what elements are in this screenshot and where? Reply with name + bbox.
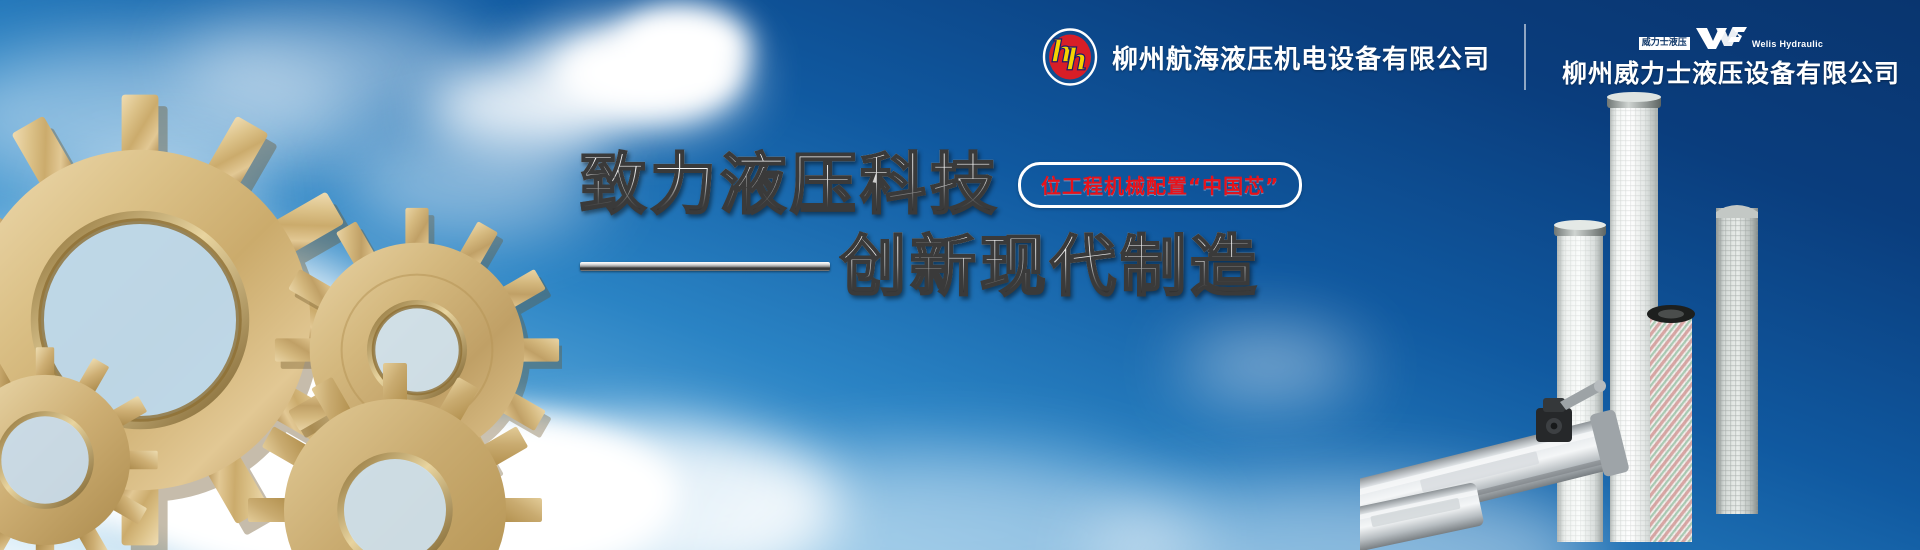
svg-text:h: h	[1066, 43, 1088, 78]
status-badge: 位工程机械配置“中国芯”	[1018, 162, 1302, 208]
gear-small	[0, 345, 160, 550]
filter-element-striped	[1647, 305, 1695, 542]
metallic-rule	[580, 262, 830, 271]
ws-logo-cn-tag: 威力士液压	[1639, 37, 1690, 50]
brand-bar: h h 柳州航海液压机电设备有限公司 威力士液压 Welis Hydraulic…	[1042, 24, 1900, 90]
headline-line-1: 致力液压科技	[580, 150, 1000, 220]
brand-secondary[interactable]: 威力士液压 Welis Hydraulic 柳州威力士液压设备有限公司	[1526, 24, 1900, 90]
headline-block: 致力液压科技 位工程机械配置“中国芯” 创新现代制造	[580, 150, 1360, 302]
ws-mark-icon	[1694, 24, 1748, 50]
brand-primary[interactable]: h h 柳州航海液压机电设备有限公司	[1042, 28, 1524, 86]
brand-secondary-name: 柳州威力士液压设备有限公司	[1562, 54, 1900, 90]
headline-line-2: 创新现代制造	[840, 232, 1260, 302]
hh-circle-logo-icon: h h	[1042, 28, 1098, 86]
filter-element-mesh	[1716, 205, 1758, 514]
brand-primary-name: 柳州航海液压机电设备有限公司	[1112, 39, 1490, 76]
ws-welis-logo-icon: 威力士液压 Welis Hydraulic	[1639, 24, 1823, 50]
ws-logo-en-text: Welis Hydraulic	[1752, 39, 1823, 50]
hero-banner: 致力液压科技 位工程机械配置“中国芯” 创新现代制造 h h 柳州航海液压机电设…	[0, 0, 1920, 550]
product-group	[1360, 90, 1920, 550]
gear-bottom	[240, 360, 550, 550]
